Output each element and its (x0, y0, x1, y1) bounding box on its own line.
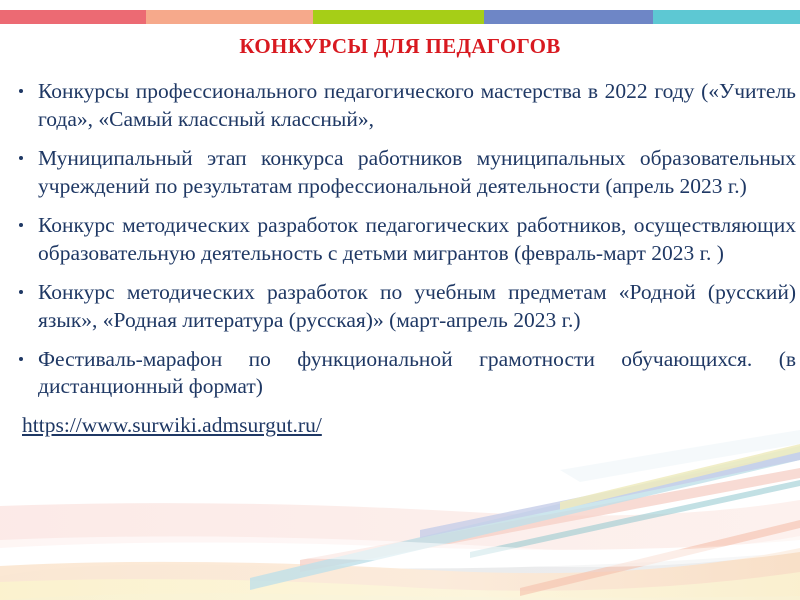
bullet-dot-icon (19, 223, 23, 227)
color-bar-segment-blue (484, 10, 653, 24)
light-sweep-shapes (0, 430, 800, 567)
top-color-bar (0, 10, 800, 24)
color-bar-segment-peach (146, 10, 313, 24)
diagonal-swoosh-lines (250, 444, 800, 596)
color-bar-segment-red (0, 10, 146, 24)
surwiki-hyperlink[interactable]: https://www.surwiki.admsurgut.ru/ (22, 413, 322, 437)
bullet-dot-icon (19, 156, 23, 160)
link-line: https://www.surwiki.admsurgut.ru/ (12, 412, 796, 440)
list-item: Конкурс методических разработок по учебн… (12, 279, 796, 335)
bottom-gray-band (0, 552, 800, 600)
bullet-dot-icon (19, 290, 23, 294)
url-pink-band (0, 500, 800, 550)
bottom-warm-wave (0, 548, 800, 600)
color-bar-segment-teal (653, 10, 800, 24)
list-item: Конкурс методических разработок педагоги… (12, 212, 796, 268)
bullet-dot-icon (19, 89, 23, 93)
list-item-text: Конкурсы профессионального педагогическо… (38, 78, 796, 134)
color-bar-segment-green (313, 10, 484, 24)
list-item: Фестиваль-марафон по функциональной грам… (12, 346, 796, 402)
list-item-text: Конкурс методических разработок педагоги… (38, 212, 796, 268)
list-item-text: Конкурс методических разработок по учебн… (38, 279, 796, 335)
bullet-dot-icon (19, 357, 23, 361)
list-item: Конкурсы профессионального педагогическо… (12, 78, 796, 134)
list-item-text: Муниципальный этап конкурса работников м… (38, 145, 796, 201)
list-item-text: Фестиваль-марафон по функциональной грам… (38, 346, 796, 402)
bullet-list: Конкурсы профессионального педагогическо… (12, 78, 796, 440)
list-item: Муниципальный этап конкурса работников м… (12, 145, 796, 201)
presentation-slide: КОНКУРСЫ ДЛЯ ПЕДАГОГОВ Конкурсы професси… (0, 0, 800, 600)
slide-title: КОНКУРСЫ ДЛЯ ПЕДАГОГОВ (0, 34, 800, 59)
